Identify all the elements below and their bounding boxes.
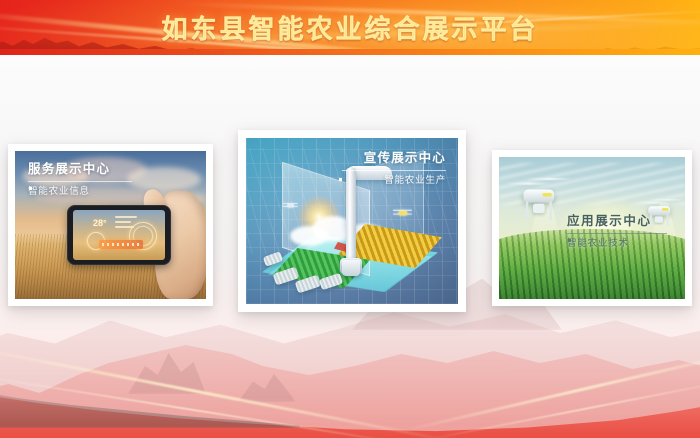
card-service[interactable]: 28° 服务展示中心 智能农业信息 xyxy=(8,144,213,306)
page-title: 如东县智能农业综合展示平台 xyxy=(0,0,700,55)
smartphone: 28° xyxy=(67,205,171,265)
hud-bar xyxy=(115,221,131,223)
card-application-subtitle: 智能农业技术 xyxy=(567,239,667,249)
card-promotion[interactable]: 宣传展示中心 智能农业生产 xyxy=(238,130,466,312)
caption-dot xyxy=(568,239,571,242)
phone-screen: 28° xyxy=(73,210,165,260)
card-service-caption: 服务展示中心 智能农业信息 xyxy=(28,163,132,196)
card-promotion-caption: 宣传展示中心 智能农业生产 xyxy=(342,152,446,185)
card-promotion-subtitle: 智能农业生产 xyxy=(342,176,446,186)
caption-rule xyxy=(567,233,667,234)
caption-dot xyxy=(29,187,32,190)
hud-bar xyxy=(115,216,137,218)
hud-data-tile xyxy=(99,240,143,249)
card-promotion-image: 宣传展示中心 智能农业生产 xyxy=(246,138,458,304)
caption-rule xyxy=(342,170,446,171)
card-service-title: 服务展示中心 xyxy=(28,163,132,176)
hud-bar xyxy=(115,226,134,228)
cloud xyxy=(127,167,201,191)
card-application-title: 应用展示中心 xyxy=(567,215,667,228)
card-service-image: 28° 服务展示中心 智能农业信息 xyxy=(15,151,206,299)
card-application[interactable]: 应用展示中心 智能农业技术 xyxy=(492,150,692,306)
water-tank xyxy=(342,260,360,276)
card-promotion-title: 宣传展示中心 xyxy=(342,152,446,165)
caption-rule xyxy=(28,181,132,182)
page-root: 如东县智能农业综合展示平台 xyxy=(0,0,700,438)
card-application-caption: 应用展示中心 智能农业技术 xyxy=(567,215,667,248)
phone-hud-overlay: 28° xyxy=(73,210,165,260)
caption-dot xyxy=(339,178,342,181)
card-application-image: 应用展示中心 智能农业技术 xyxy=(499,157,685,299)
phone-temperature-reading: 28° xyxy=(93,218,107,228)
card-service-subtitle: 智能农业信息 xyxy=(28,187,132,197)
